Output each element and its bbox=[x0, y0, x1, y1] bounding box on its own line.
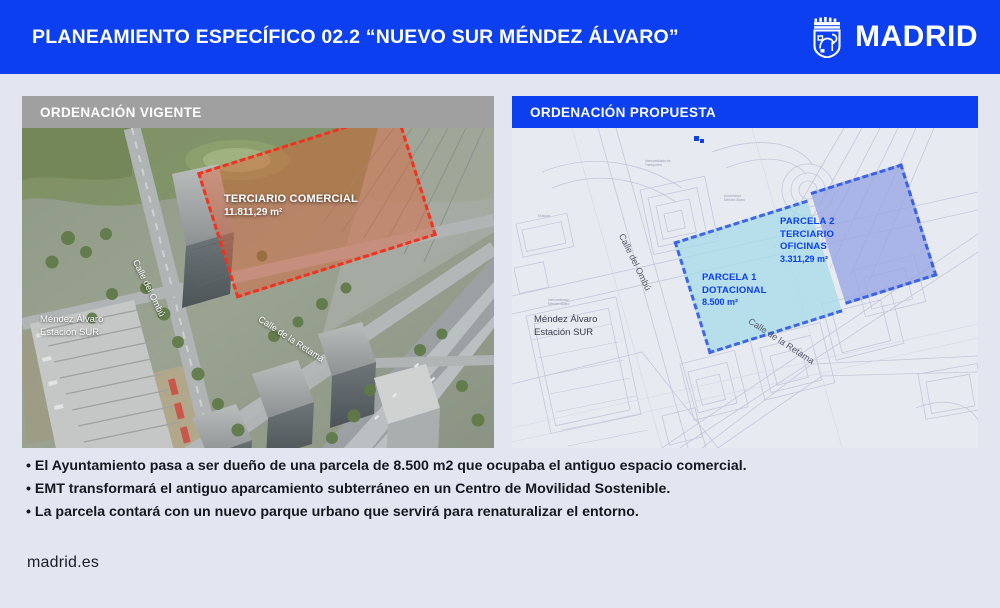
parcel-label-terciario-comercial: TERCIARIO COMERCIAL 11.811,29 m² bbox=[224, 192, 358, 219]
bullet-item-1: • El Ayuntamiento pasa a ser dueño de un… bbox=[26, 455, 966, 478]
parcela-2-use1: TERCIARIO bbox=[780, 229, 835, 242]
comparison-panels: ORDENACIÓN VIGENTE bbox=[0, 74, 1000, 449]
map-annotation-intercambiador: Intercambiador deTransportes bbox=[645, 159, 671, 167]
page-title: PLANEAMIENTO ESPECÍFICO 02.2 “NUEVO SUR … bbox=[32, 26, 679, 49]
parcel-label-parcela-1: PARCELA 1 DOTACIONAL 8.500 m² bbox=[702, 272, 767, 309]
place-label-line2: Estación SUR bbox=[534, 327, 593, 338]
panel-right-body: Intercambiador deTransportes Estación In… bbox=[512, 128, 978, 448]
map-annotation-estacion: Estación bbox=[538, 214, 550, 218]
page-header: PLANEAMIENTO ESPECÍFICO 02.2 “NUEVO SUR … bbox=[0, 0, 1000, 74]
key-points-list: • El Ayuntamiento pasa a ser dueño de un… bbox=[26, 455, 966, 524]
parcel-name: TERCIARIO COMERCIAL bbox=[224, 192, 358, 206]
panel-ordenacion-propuesta: ORDENACIÓN PROPUESTA bbox=[512, 96, 978, 448]
parcel-area: 11.811,29 m² bbox=[224, 206, 358, 219]
map-annotation-edificio: UniversidadMéndez Álvaro bbox=[724, 194, 745, 202]
panel-ordenacion-vigente: ORDENACIÓN VIGENTE bbox=[22, 96, 494, 448]
parcela-1-use: DOTACIONAL bbox=[702, 285, 767, 298]
brand-wordmark: MADRID bbox=[855, 22, 978, 52]
parcela-1-title: PARCELA 1 bbox=[702, 272, 767, 285]
bullet-item-3: • La parcela contará con un nuevo parque… bbox=[26, 501, 966, 524]
madrid-coat-of-arms-icon bbox=[810, 16, 844, 58]
parcel-label-parcela-2: PARCELA 2 TERCIARIO OFICINAS 3.311,29 m² bbox=[780, 216, 835, 266]
panel-right-header: ORDENACIÓN PROPUESTA bbox=[512, 96, 978, 128]
map-annotation-universidad: IntercambiadorMéndez Álvaro bbox=[548, 298, 569, 306]
place-label-mendez-alvaro: Méndez Álvaro Estación SUR bbox=[534, 314, 597, 340]
place-label-line1: Méndez Álvaro bbox=[534, 314, 597, 325]
panel-left-header: ORDENACIÓN VIGENTE bbox=[22, 96, 494, 128]
parcela-2-use2: OFICINAS bbox=[780, 241, 835, 254]
panel-right-heading: ORDENACIÓN PROPUESTA bbox=[530, 105, 716, 120]
parcela-1-area: 8.500 m² bbox=[702, 297, 767, 309]
parcela-2-title: PARCELA 2 bbox=[780, 216, 835, 229]
footer-website[interactable]: madrid.es bbox=[27, 554, 99, 572]
panel-left-body: TERCIARIO COMERCIAL 11.811,29 m² Calle d… bbox=[22, 128, 494, 448]
panel-left-heading: ORDENACIÓN VIGENTE bbox=[40, 105, 202, 120]
bullet-item-2: • EMT transformará el antiguo aparcamien… bbox=[26, 478, 966, 501]
parcela-2-area: 3.311,29 m² bbox=[780, 254, 835, 266]
madrid-brand: MADRID bbox=[810, 16, 978, 58]
